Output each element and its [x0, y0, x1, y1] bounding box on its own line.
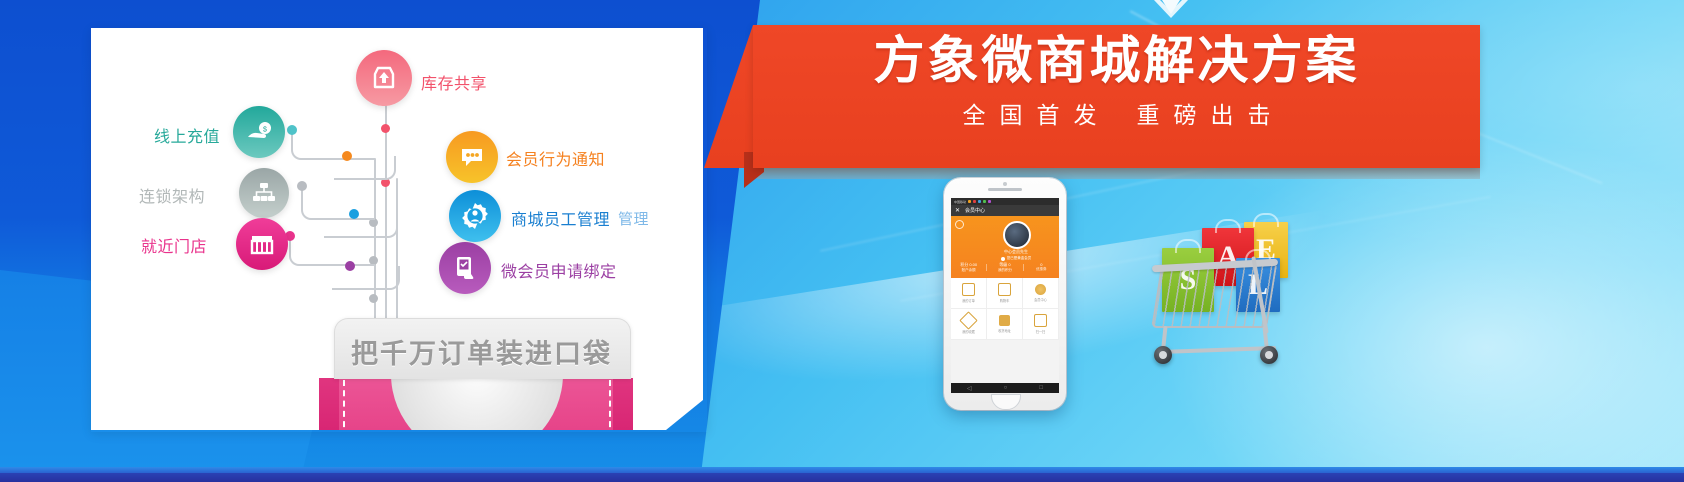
svg-text:$: $ — [263, 127, 267, 134]
cart-icon — [998, 283, 1011, 296]
phone-nav-title: 会员中心 — [965, 207, 985, 214]
grid-item-label: 购物车 — [1000, 298, 1010, 303]
stat-label: 我的积分 — [987, 268, 1022, 273]
stat-item[interactable]: 等级 0 我的积分 — [987, 262, 1022, 273]
close-icon[interactable]: ✕ — [955, 207, 960, 214]
node-label-chain-structure: 连锁架构 — [139, 183, 205, 207]
phone-mockup: 中国移动 ✕ 会员中心 中心会员先生 您已是黄金会员 — [944, 178, 1066, 410]
grid-item[interactable]: 我的收藏 — [951, 309, 987, 340]
grid-item-label: 会员中心 — [1034, 297, 1047, 302]
node-label-mall-staff-management: 商城员工管理 — [511, 206, 610, 230]
status-carrier: 中国移动 — [954, 200, 966, 204]
grid-item[interactable]: 收货地址 — [987, 309, 1023, 340]
orders-icon — [962, 283, 975, 296]
recents-icon[interactable]: □ — [1039, 385, 1043, 391]
phone-content-rest — [951, 340, 1059, 366]
node-icon-online-recharge[interactable]: $ — [233, 106, 285, 158]
trunk-dot — [369, 294, 378, 303]
phone-stats-row: 积分 0.00 账户余额 等级 0 我的积分 0 优惠券 — [951, 262, 1059, 273]
phone-speaker — [988, 188, 1022, 191]
phone-nav-buttons[interactable]: ◁ ○ □ — [951, 383, 1059, 393]
phone-user-name: 中心会员先生 — [991, 249, 1041, 255]
grid-item[interactable]: 会员中心 — [1023, 278, 1059, 309]
node-label-online-recharge: 线上充值 — [154, 123, 220, 147]
scan-icon — [1034, 314, 1047, 327]
node-icon-nearby-store[interactable] — [236, 218, 288, 270]
phone-nav-bar[interactable]: ✕ 会员中心 — [951, 205, 1059, 216]
lock-icon — [999, 315, 1010, 326]
trunk-line — [396, 178, 398, 326]
coin-icon — [1035, 284, 1046, 295]
back-icon[interactable]: ◁ — [967, 385, 972, 392]
cart-wheel — [1260, 346, 1278, 364]
status-badge: 您已是黄金会员 — [989, 256, 1043, 261]
phone-camera-icon — [1003, 182, 1007, 186]
status-indicator — [978, 200, 981, 203]
grid-item-label: 扫一扫 — [1036, 329, 1046, 334]
phone-status-bar: 中国移动 — [951, 198, 1059, 205]
diagram-panel: 库存共享 $ 线上充值 连锁架构 就近门店 会员行为通知 商城员工管理 管理 — [91, 28, 703, 430]
node-label-micro-member-binding: 微会员申请绑定 — [501, 258, 617, 282]
branch-dot — [345, 261, 355, 271]
stat-label: 账户余额 — [951, 268, 986, 273]
phone-member-hero: 中心会员先生 您已是黄金会员 积分 0.00 账户余额 等级 0 我的积分 — [951, 216, 1059, 278]
status-indicator — [988, 200, 991, 203]
cart-axle — [1158, 346, 1276, 354]
status-indicator — [973, 200, 976, 203]
node-label-nearby-store: 就近门店 — [141, 233, 207, 257]
stat-label: 优惠券 — [1024, 267, 1059, 272]
branch-line — [289, 236, 375, 266]
node-label-management-clipped: 管理 — [618, 208, 649, 229]
banner-shadow — [757, 168, 1480, 179]
node-label-inventory-share: 库存共享 — [421, 70, 487, 94]
status-indicator — [983, 200, 986, 203]
grid-item-label: 收货地址 — [998, 328, 1011, 333]
avatar[interactable] — [1003, 221, 1031, 249]
home-icon[interactable]: ○ — [1004, 385, 1008, 391]
phone-home-button[interactable] — [991, 394, 1021, 410]
grid-item-label: 我的收藏 — [962, 329, 975, 334]
branch-line — [324, 214, 398, 238]
branch-line — [332, 266, 400, 290]
banner-title: 方象微商城解决方案 — [753, 36, 1480, 87]
branch-dot — [349, 209, 359, 219]
node-icon-member-behavior-notice[interactable] — [446, 131, 498, 183]
chevron-down-icon — [1148, 0, 1194, 26]
stat-item[interactable]: 0 优惠券 — [1024, 262, 1059, 273]
node-icon-micro-member-binding[interactable] — [439, 242, 491, 294]
phone-screen: 中国移动 ✕ 会员中心 中心会员先生 您已是黄金会员 — [951, 198, 1059, 383]
shopping-cart-illustration: E A L S — [1140, 222, 1320, 372]
pocket-slogan: 把千万订单装进口袋 — [334, 332, 629, 371]
node-icon-inventory-share[interactable] — [356, 50, 412, 106]
gear-icon[interactable] — [955, 220, 964, 229]
favorite-icon — [959, 311, 977, 329]
status-indicator — [968, 200, 971, 203]
node-label-member-behavior-notice: 会员行为通知 — [506, 146, 605, 170]
node-icon-chain-structure[interactable] — [239, 168, 289, 218]
banner-subtitle-left: 全国首发 — [963, 102, 1111, 128]
stat-item[interactable]: 积分 0.00 账户余额 — [951, 262, 986, 273]
node-icon-mall-staff-management[interactable] — [449, 190, 501, 242]
branch-dot — [297, 181, 307, 191]
badge-text: 您已是黄金会员 — [1007, 256, 1032, 261]
badge-dot-icon — [1001, 257, 1005, 261]
grid-item-label: 我的订单 — [962, 298, 975, 303]
branch-dot — [342, 151, 352, 161]
banner-subtitle: 全国首发重磅出击 — [753, 104, 1480, 127]
trunk-dot — [381, 124, 390, 133]
grid-item[interactable]: 我的订单 — [951, 278, 987, 309]
branch-dot — [287, 125, 297, 135]
promo-banner: 库存共享 $ 线上充值 连锁架构 就近门店 会员行为通知 商城员工管理 管理 — [0, 0, 1684, 482]
grid-item[interactable]: 扫一扫 — [1023, 309, 1059, 340]
banner-subtitle-right: 重磅出击 — [1137, 102, 1285, 128]
phone-feature-grid: 我的订单 购物车 会员中心 我的收藏 收货地址 — [951, 278, 1059, 340]
cart-wheel — [1154, 346, 1172, 364]
background-bottom-band — [0, 473, 1684, 482]
grid-item[interactable]: 购物车 — [987, 278, 1023, 309]
